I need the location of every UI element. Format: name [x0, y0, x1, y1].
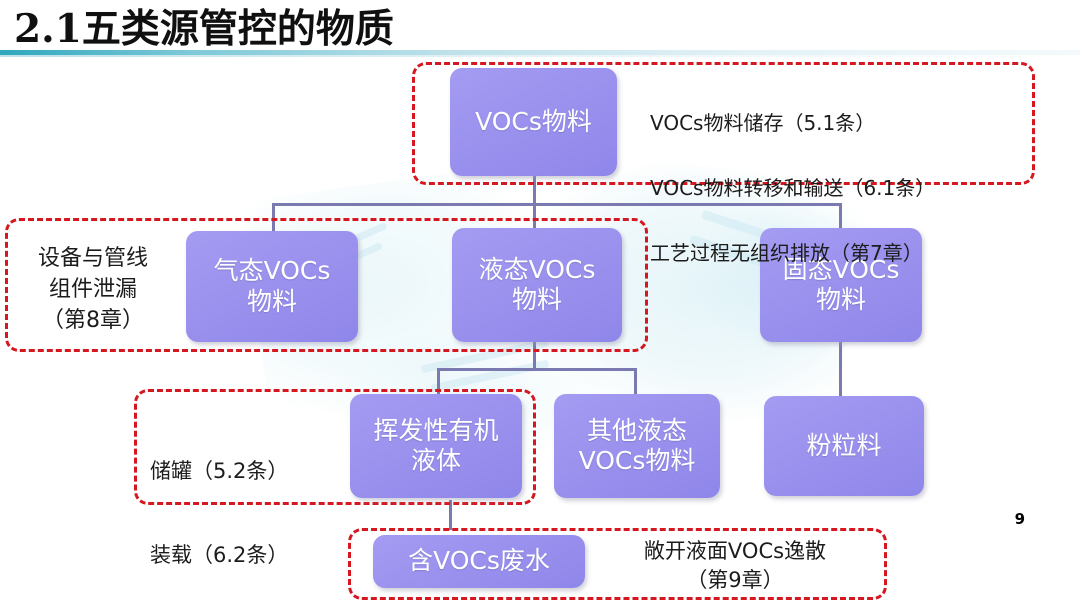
page-number: 9 — [1015, 510, 1025, 528]
annotation-open-liquid-surface: 敞开液面VOCs逸散 （第9章） — [600, 537, 870, 595]
background-watermark-stripe — [430, 360, 549, 393]
slide-canvas: 2.1五类源管控的物质 VOCs物料 气态VOCs 物料 液态VOCs 物料 固… — [0, 0, 1080, 608]
title-underline-rule-soft — [0, 55, 1080, 57]
annotation-tank-line: 储罐（5.2条） — [150, 450, 340, 492]
connector-solid-to-powder — [839, 340, 842, 396]
node-gaseous-vocs-material[interactable]: 气态VOCs 物料 — [186, 231, 358, 342]
node-volatile-organic-liquid[interactable]: 挥发性有机 液体 — [350, 394, 522, 498]
annotation-tank-line: 装载（6.2条） — [150, 534, 340, 576]
annotation-root-line: VOCs物料储存（5.1条） — [650, 107, 1030, 139]
annotation-tank-loading: 储罐（5.2条） 装载（6.2条） — [150, 408, 340, 608]
node-other-liquid-vocs-material[interactable]: 其他液态 VOCs物料 — [554, 394, 720, 498]
node-powder-granular-material[interactable]: 粉粒料 — [764, 396, 924, 496]
annotation-root-line: 工艺过程无组织排放（第7章） — [650, 237, 1030, 269]
connector-drop-other-liquid — [634, 368, 637, 396]
connector-liquid-bus — [437, 368, 637, 371]
page-title: 2.1五类源管控的物质 — [14, 0, 394, 54]
annotation-root-line: VOCs物料转移和输送（6.1条） — [650, 172, 1030, 204]
annotation-equipment-leak: 设备与管线 组件泄漏 （第8章） — [12, 243, 174, 337]
node-liquid-vocs-material[interactable]: 液态VOCs 物料 — [452, 228, 622, 342]
node-vocs-wastewater[interactable]: 含VOCs废水 — [373, 535, 585, 588]
annotation-root-list: VOCs物料储存（5.1条） VOCs物料转移和输送（6.1条） 工艺过程无组织… — [650, 75, 1030, 302]
node-vocs-material[interactable]: VOCs物料 — [450, 68, 617, 176]
